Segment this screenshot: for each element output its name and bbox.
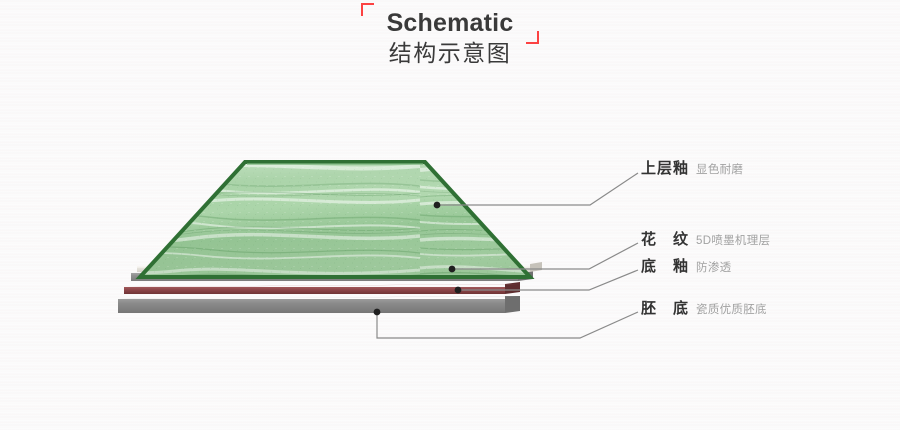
callout-base-glaze: 底 釉防渗透 [641, 259, 731, 275]
callout-body-sub: 瓷质优质胚底 [696, 304, 767, 316]
layer-body-base [118, 296, 520, 313]
page-title-en-text: Schematic [387, 9, 514, 37]
leader-markers [374, 202, 462, 316]
schematic-page: Schematic 结构示意图 [0, 0, 900, 430]
callout-top-glaze-main: 上层釉 [641, 160, 689, 177]
callout-top-glaze-sub: 显色耐磨 [696, 164, 743, 176]
marker-base-glaze [455, 287, 462, 294]
page-title-cn: 结构示意图 [0, 39, 900, 67]
title-block: Schematic 结构示意图 [0, 8, 900, 67]
callout-base-glaze-sub: 防渗透 [696, 262, 731, 274]
layer-base-glaze [131, 267, 533, 281]
callout-pattern: 花 纹5D喷墨机理层 [641, 232, 770, 248]
page-title-en: Schematic [361, 8, 540, 38]
marker-pattern [449, 266, 456, 273]
callout-pattern-main: 花 纹 [641, 231, 689, 248]
callout-pattern-sub: 5D喷墨机理层 [696, 235, 770, 247]
corner-bracket-bottom-right-icon [526, 31, 539, 44]
marker-top-glaze [434, 202, 441, 209]
layer-top-glaze [130, 155, 550, 285]
layer-pattern [137, 262, 542, 272]
marker-body [374, 309, 381, 316]
layer-body-red [124, 282, 520, 294]
callout-body: 胚 底瓷质优质胚底 [641, 301, 767, 317]
callout-base-glaze-main: 底 釉 [641, 258, 689, 275]
callout-top-glaze: 上层釉显色耐磨 [641, 161, 743, 177]
leader-lines [377, 173, 638, 338]
corner-bracket-top-left-icon [361, 3, 374, 16]
callout-body-main: 胚 底 [641, 300, 689, 317]
